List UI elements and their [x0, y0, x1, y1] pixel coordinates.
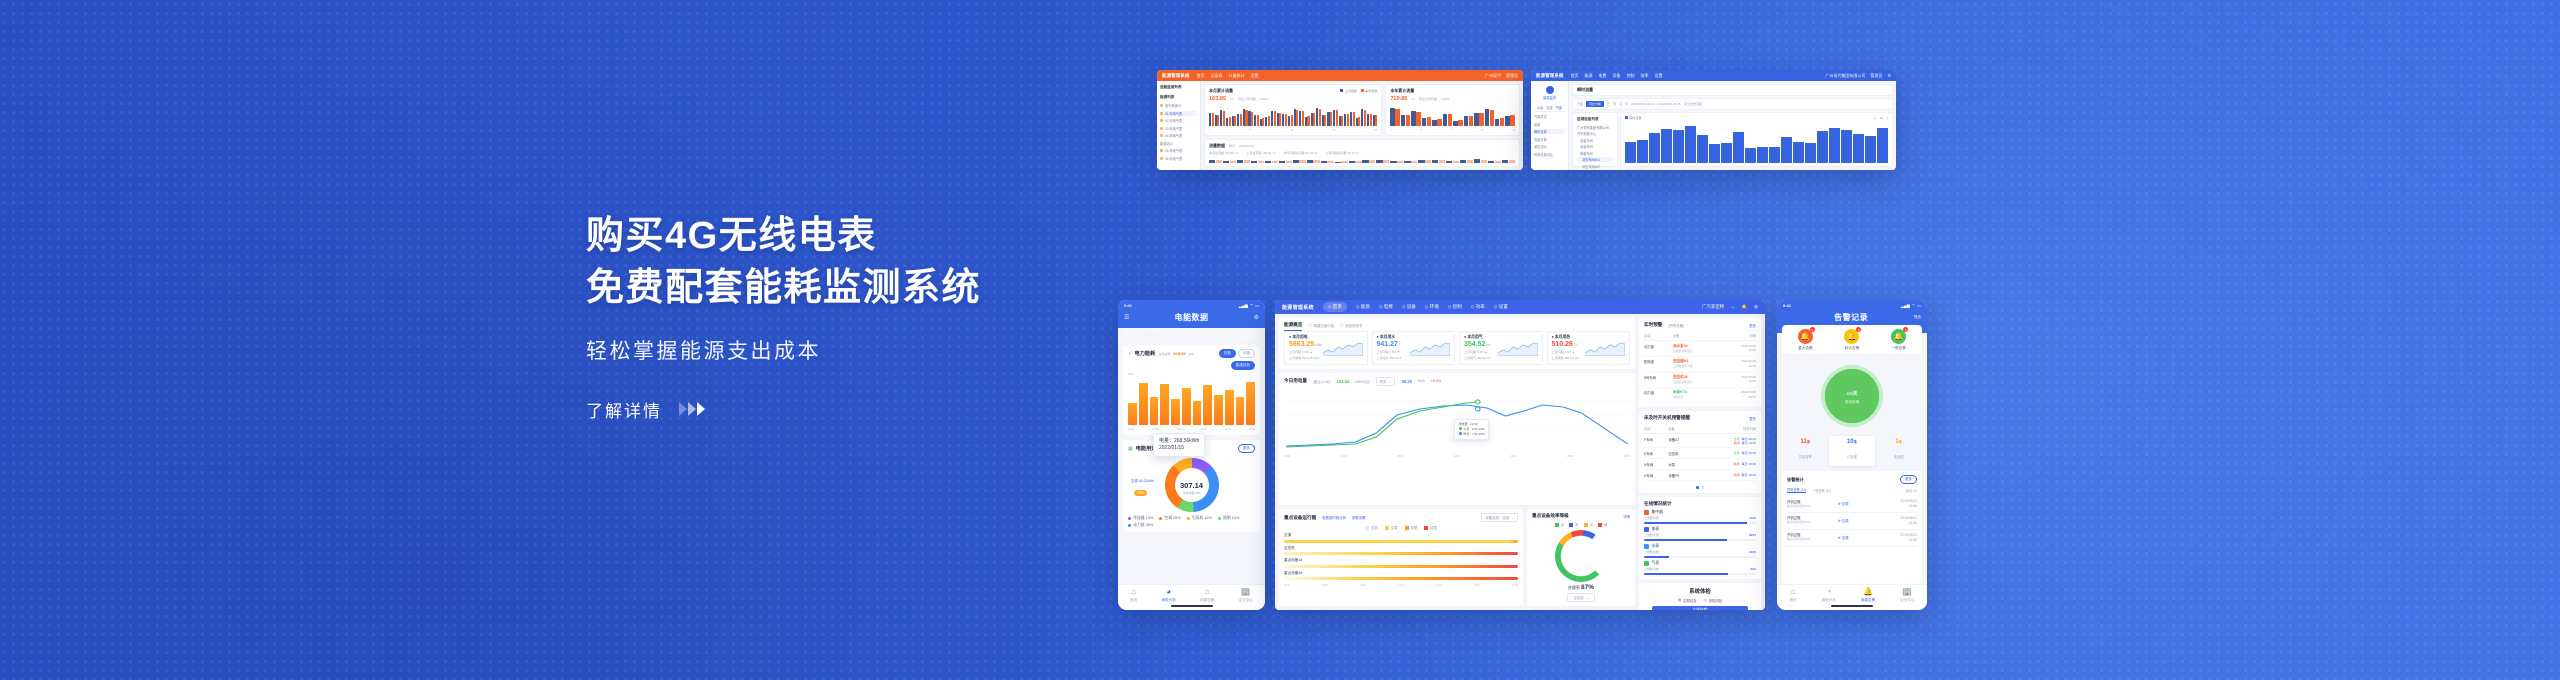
bar [1625, 124, 1636, 163]
bell-icon: ⌂ [1205, 588, 1210, 596]
bar-group [1422, 106, 1431, 126]
status-bar: 9:41 ▂▄▆⌃▭ [1118, 300, 1265, 311]
bar [1160, 384, 1169, 425]
sidebar-item[interactable]: 05 用电气表 [1160, 148, 1197, 153]
card-alarm-stats: 告警统计 更多 异常告警 (11) 一般告警 (10) 综合 (1) 开机过慢额… [1782, 471, 1922, 584]
bar [1171, 399, 1180, 425]
filter-month[interactable]: 月 [1619, 102, 1622, 106]
search-icon: ⌕ [1129, 331, 1131, 336]
card-kpi-value: 163.85 [1209, 96, 1226, 102]
account-user[interactable]: 管理员 [1506, 73, 1518, 79]
bar-group [1215, 106, 1220, 126]
bar-chart-flow-data [1209, 157, 1515, 163]
screenshot-desktop-instant-flow[interactable]: 能源管理系统 首页 能源 电费 设备 控制 效率 设置 广州现代集团有限公司 管… [1531, 70, 1896, 170]
card-title: 流量数据 [1209, 143, 1225, 149]
headline-line-2: 免费配套能耗监测系统 [586, 262, 1146, 314]
bar-group [1243, 106, 1248, 126]
bar-group [1502, 159, 1515, 163]
bar-group [1237, 106, 1242, 126]
card-alarm-levels: 🔔1 重大告警 🔔3 较大告警 🔔5 一般告警 [1782, 325, 1922, 354]
sidebar[interactable]: 能源监测 水量 电量 气量 气量总览 用量 瞬时流量 流量开量 量区对比 时间流… [1531, 81, 1569, 170]
bar-chart-daily-power [1128, 379, 1255, 425]
today-total-unit: kWh/对比 [1355, 379, 1370, 384]
tab-home[interactable]: ⌂首页 [1130, 588, 1137, 603]
nav-item-efficiency[interactable]: 效率 [1641, 73, 1649, 79]
bar-group [1464, 106, 1473, 126]
card-flow-data: 流量数据 按月 2019/12/01 本月总流量 163.85 m³ 上月总流量… [1204, 139, 1520, 167]
sidebar[interactable]: 选能监测列表 能源列表 用气系统01 01 用电气表 02 用电气表 03 用电… [1157, 81, 1201, 170]
panel-realtime-alarm: 实时预警 (所有设备) 更多 区域 设备 时间 动力部 深水泵3#长期低功率运行… [1639, 318, 1761, 407]
bar-group [1390, 106, 1399, 126]
gauge-efficiency [1555, 530, 1607, 582]
donut-callout-label: 空调 89.22kWh [1131, 478, 1154, 483]
filter-icon[interactable]: 筛选 [1914, 315, 1921, 320]
sidebar-item-area-compare[interactable]: 量区对比 [1534, 144, 1565, 149]
bar-group [1373, 106, 1378, 126]
card-power-consumption: ⚡ 电力能耗 当月总数 3046.62 kWh 日报 月报 曲线分析 kWh 0… [1123, 345, 1260, 435]
chevron-down-icon[interactable]: ⌄ [1731, 304, 1735, 310]
bar-group [1294, 106, 1299, 126]
tab-energy-alarm[interactable]: 🔔用能告警 [1861, 588, 1875, 603]
pill-daily[interactable]: 日报 [1219, 349, 1236, 358]
table-row[interactable]: N车间水泵 新闭每日 15:00 [1644, 459, 1756, 470]
more-link[interactable]: 更多 [1749, 416, 1756, 421]
bar-group [1322, 106, 1327, 126]
account-company[interactable]: 广州现代 [1485, 73, 1501, 79]
tree-node[interactable]: 涂装车间 [1577, 144, 1613, 149]
filter-day[interactable]: 日 [1607, 102, 1610, 106]
bar [1709, 124, 1720, 163]
tree-title: 区域设备列表 [1577, 116, 1613, 123]
bar [1193, 401, 1202, 425]
kpi-prev: 上月用热 496.54 GJ [1552, 356, 1626, 361]
legend-item: 引风机 12% [1187, 516, 1212, 521]
link-intro[interactable]: ▢ 新建交接介绍 [1308, 323, 1334, 328]
nav-item-control[interactable]: 控制 [1627, 73, 1635, 79]
x-axis: 02:0006:00 10:0014:00 18:0022:00 [1128, 428, 1255, 431]
tree-node[interactable]: 汽车制造中心 [1577, 131, 1613, 136]
online-row: 水表 上线数/总数16/72 [1644, 544, 1756, 558]
bar [1733, 124, 1744, 163]
app-brand: 能源管理系统 [1282, 304, 1314, 311]
screenshot-desktop-energy-dashboard[interactable]: 能源管理系统 ◇ 首页◇ 能源◇ 电费◇ 设备◇ 环境◇ 控制◇ 效率◇ 设置 … [1275, 300, 1765, 610]
filter-bar[interactable]: 日报 同比分析 日 周 月 年 2019/06/01 00:00 - 2019/… [1572, 98, 1893, 110]
bell-icon[interactable]: 🔔 [1742, 304, 1747, 310]
tab-home[interactable]: ⌂首页 [1789, 588, 1796, 603]
kpi-prev: 上月用水 956.64 T [1377, 356, 1451, 361]
learn-more-link[interactable]: 了解详情 [586, 397, 705, 422]
bar-group [1282, 106, 1287, 126]
equipment-row: 空压机 [1284, 546, 1518, 556]
device-tree[interactable]: 区域设备列表 广州现代集团有限公司... 汽车制造中心 总装车间 涂装车间 焊装… [1572, 112, 1618, 167]
sidebar-item[interactable]: 用气系统01 [1160, 103, 1197, 108]
today-current-unit: kWh [1418, 379, 1425, 383]
bar [1203, 385, 1212, 425]
today-total: 103.54 [1337, 379, 1350, 384]
tree-root[interactable]: 广州现代集团有限公司... [1577, 125, 1613, 130]
col-area: 区域 [1644, 424, 1668, 434]
nav-item-电费[interactable]: ◇ 电费 [1379, 304, 1393, 310]
bar-group [1362, 159, 1375, 163]
tree-node[interactable]: 焊装车间 [1577, 151, 1613, 156]
nav-item-fee[interactable]: 电费 [1599, 73, 1607, 79]
menu-icon[interactable]: ☰ [1124, 314, 1129, 321]
table-row[interactable]: 动力部 深水泵3#长期低功率运行 2021/03/1512:35 [1644, 341, 1756, 357]
legend-item: 空调 29% [1159, 516, 1180, 521]
legend-item: 差 [1598, 522, 1607, 527]
bar-group [1339, 106, 1344, 126]
start-check-button[interactable]: 立即体检 [1652, 606, 1748, 610]
compare-select[interactable]: 昨天 ⌄ [1376, 377, 1396, 386]
bar-group [1311, 106, 1316, 126]
list-item[interactable]: 开机过慢额定功率范围的20% ❄ 空调 2018/08/1112:56 [1787, 496, 1917, 513]
bar-group [1390, 159, 1403, 163]
card-title: 本月累计流量 [1209, 88, 1233, 94]
alarm-stat: 11条异常告警 [1782, 436, 1829, 466]
card-compare-delta: 5.60% [1441, 97, 1450, 101]
option-clear-risk: ◷ 清除风险 [1704, 598, 1723, 603]
kpi-card-gas: ● 本月用气 354.52m³ 上月同期 0.6% ▲ 上月用气 352.64 … [1459, 331, 1543, 365]
nav-item-环境[interactable]: ◇ 环境 [1425, 304, 1439, 310]
sidebar-item-usage[interactable]: 用量 [1534, 122, 1565, 127]
tab-enterprise-center[interactable]: 🏢企业中心 [1900, 588, 1914, 603]
bar-group [1474, 159, 1487, 163]
tab-enterprise-center[interactable]: 🏢企业中心 [1239, 588, 1253, 603]
bar [1225, 390, 1234, 425]
bar-group [1305, 106, 1310, 126]
table-row[interactable]: F车间设备A7 全闭每日 08:00新闭每日 18:00 [1644, 434, 1756, 448]
nav-item-home[interactable]: 首页 [1571, 73, 1579, 79]
nav-item-能源[interactable]: ◇ 能源 [1356, 304, 1370, 310]
nav-item-效率[interactable]: ◇ 效率 [1471, 304, 1485, 310]
stat-item: 本年同期总流量 86.19 m³ [1284, 151, 1318, 155]
alarm-stat: 1条未处理 [1875, 436, 1922, 466]
user-icon[interactable]: ◍ [1754, 304, 1758, 310]
more-button[interactable]: 更多 [1900, 475, 1917, 484]
col-check-time: 检查时间 [1697, 424, 1756, 434]
bar-group [1209, 106, 1214, 126]
card-kpi-value: 719.85 [1390, 96, 1407, 102]
panel-title: 系统体检 [1689, 587, 1711, 595]
nav-item-settings[interactable]: 设置 [1655, 73, 1663, 79]
bar [1841, 124, 1852, 163]
tree-node[interactable]: 冲压车间#02 [1577, 164, 1613, 169]
banner-subheadline: 轻松掌握能源支出成本 [586, 335, 1146, 365]
legend-item: 优 [1555, 522, 1564, 527]
bar-group [1248, 106, 1253, 126]
card-compare-label: 同比去年同期 [1419, 97, 1437, 101]
bar-group [1505, 106, 1514, 126]
date-range-input[interactable]: 2019/06/01 00:00 - 2019/06/01 23:45 [1631, 102, 1680, 106]
tab-energy-alarm[interactable]: ⌂用能告警 [1200, 588, 1214, 603]
sidebar-item[interactable]: 03 用电气表 [1160, 126, 1197, 131]
link-period-analysis[interactable]: 查看各时段分析 [1322, 515, 1346, 520]
screenshot-mobile-alarm-record[interactable]: 9:41 ▂▄▆⌃▭ ☰ 告警记录 筛选 🔔1 重大告警 🔔3 较大告警 🔔5 … [1777, 300, 1927, 610]
home-icon: ⌂ [1131, 588, 1136, 596]
online-row: 电表 上线数/总数53/72 [1644, 527, 1756, 541]
sidebar-title: 选能监测列表 [1160, 84, 1197, 91]
sidebar-item-time-compare[interactable]: 时间流量对比 [1534, 152, 1565, 157]
legend-item: 传送器 13% [1128, 516, 1153, 521]
alarm-level-一般告警[interactable]: 🔔5 一般告警 [1891, 329, 1906, 351]
tab-electric[interactable]: 电量 [1546, 105, 1552, 110]
page-title: 电能数据 [1175, 312, 1209, 323]
equipment-rows: 空调空压机重点设备1#重点设备2# [1284, 533, 1518, 580]
bar-group [1220, 106, 1225, 126]
bar-group [1474, 106, 1483, 126]
equipment-select[interactable]: 空压机 ⌄ [1567, 593, 1594, 602]
account-company[interactable]: 广州现代集团有限公司 [1825, 73, 1865, 79]
legend-item: 重载 [1424, 525, 1437, 530]
more-link[interactable]: 更多 [1749, 323, 1756, 328]
safe-days-widget: 375天 安全用电 [1782, 359, 1922, 431]
panel-online-stats: 在线情况统计 集中器 上线数/总数11/12 电表 上线数/总数53/72 水表… [1639, 497, 1761, 579]
search-input[interactable]: ⌕ 上个月总电量 🎙 [1124, 328, 1259, 339]
sidebar-item[interactable]: 04 用电气表 [1160, 133, 1197, 138]
wifi-icon: ⌃ [1250, 303, 1253, 308]
account-user[interactable]: 管理员 [1870, 73, 1882, 79]
bar-group [1485, 106, 1494, 126]
filter-period[interactable]: 按月 [1229, 144, 1235, 148]
bar [1214, 395, 1223, 425]
bar-group [1488, 159, 1501, 163]
bar [1781, 124, 1792, 163]
device-select[interactable]: 设备选择：全选 ⌄ [1481, 513, 1518, 522]
link-param-settings[interactable]: 参数设置 [1352, 515, 1366, 520]
battery-icon: ▭ [1917, 303, 1921, 308]
legend-this-year: 本年用量 [1361, 89, 1378, 93]
bar-group [1418, 159, 1431, 163]
card-kpi-unit: m³ [1411, 97, 1415, 101]
sidebar-group: 能源列表 [1160, 94, 1197, 101]
bell-icon: 🔔 [1863, 588, 1873, 596]
sparkline [1498, 341, 1538, 356]
filter-date[interactable]: 2019/12/01 [1239, 144, 1254, 148]
bar [1805, 124, 1816, 163]
bar [1757, 124, 1768, 163]
table-row[interactable]: 配电室 变压器H1三相电流不平衡 2021/03/1510:39 [1644, 356, 1756, 372]
legend-item: 轻载 [1405, 525, 1418, 530]
nav-item-energy[interactable]: 能源 [1585, 73, 1593, 79]
app-brand: 能源管理系统 [1162, 73, 1190, 79]
nav-item-首页[interactable]: ◇ 首页 [1323, 302, 1347, 312]
bar [1877, 124, 1888, 163]
equipment-row: 重点设备1# [1284, 558, 1518, 568]
signal-icon: ▂▄▆ [1901, 303, 1910, 308]
bar [1769, 124, 1780, 163]
bar-group [1288, 106, 1293, 126]
bar-group [1376, 159, 1389, 163]
pill-curve-analysis[interactable]: 曲线分析 [1231, 361, 1255, 370]
bar-group [1344, 106, 1349, 126]
donut-chart-energy-usage: 307.14 月总电量 kWh 空调 89.22kWh 29% [1128, 456, 1255, 513]
bar [1182, 388, 1191, 425]
sidebar-item[interactable]: 06 用电气表 [1160, 156, 1197, 161]
bar [1128, 403, 1137, 425]
filter-year[interactable]: 年 [1625, 102, 1628, 106]
list-item[interactable]: 开机过慢额定功率范围的20% ❄ 空调 2018/08/1112:56 [1787, 513, 1917, 530]
filter-week[interactable]: 周 [1613, 102, 1616, 106]
kpi-card-elec: ● 本月用电 5863.25kWh 上月同期 9.6% ▲ 上月用电 5319.… [1284, 331, 1368, 365]
bar-group [1316, 106, 1321, 126]
bar-group [1460, 159, 1473, 163]
nav-item-设备[interactable]: ◇ 设备 [1402, 304, 1416, 310]
pagination-dots[interactable] [1644, 484, 1756, 489]
donut-center-label: 月总电量 kWh [1180, 492, 1203, 495]
bar-group [1443, 106, 1452, 126]
alarm-table: 区域 设备 时间 动力部 深水泵3#长期低功率运行 2021/03/1512:3… [1644, 331, 1756, 403]
bar [1139, 383, 1148, 425]
panel-today-usage: 今日用电量 (截止12:00) 103.54 kWh/对比 昨天 ⌄ 98.25… [1279, 373, 1635, 505]
option-regular-check: ▤ 定期检查 [1678, 598, 1697, 603]
compare-checkbox[interactable]: 对比历史同期 [1683, 102, 1701, 106]
sparkline [1323, 341, 1363, 356]
nav-item-device[interactable]: 设备 [1613, 73, 1621, 79]
panel-energy-overview: 能源概览 ▢ 新建交接介绍 ▢ 系统说明书 ● 本月用电 5863.25kWh … [1279, 318, 1635, 369]
battery-icon: ▭ [1255, 303, 1259, 308]
gear-icon[interactable]: ⚙ [1887, 73, 1891, 79]
screenshot-desktop-flow-report[interactable]: 能源管理系统 首页 记录表 计量统计 设置 广州现代 管理员 选能监测列表 能源… [1157, 70, 1523, 170]
filter-compare[interactable]: 同比分析 [1586, 101, 1604, 107]
online-row: 气表 上线数/总数9/12 [1644, 561, 1756, 575]
bar-group [1349, 159, 1362, 163]
online-row: 集中器 上线数/总数11/12 [1644, 510, 1756, 524]
sidebar-item[interactable]: 01 用电气表 [1160, 111, 1197, 116]
nav-item-控制[interactable]: ◇ 控制 [1448, 304, 1462, 310]
bar-group [1277, 106, 1282, 126]
tab-water[interactable]: 水量 [1537, 105, 1543, 110]
app-header: ☰ 电能数据 ⚙ [1118, 311, 1265, 328]
section-title: 告警统计 [1787, 477, 1804, 483]
tab-general[interactable]: 一般告警 (10) [1812, 488, 1831, 493]
gauge-metric: 合理率 87% [1568, 584, 1594, 591]
app-brand: 能源管理系统 [1536, 73, 1564, 79]
bar [1793, 124, 1804, 163]
bar-group [1279, 159, 1292, 163]
sidebar-item[interactable]: 能源站02 [1160, 141, 1197, 146]
bar-group [1367, 106, 1372, 126]
panel-title: 重点设备运行图 [1284, 515, 1316, 521]
account-name[interactable]: 广汽菲亚特 [1702, 304, 1724, 310]
screenshot-mobile-energy-data[interactable]: 9:41 ▂▄▆⌃▭ ☰ 电能数据 ⚙ ⌕ 上个月总电量 🎙 ⚡ 电力能耗 当月… [1118, 300, 1265, 610]
nav-item-stats[interactable]: 计量统计 [1229, 73, 1245, 79]
kpi-prev: 上月用电 5319.45 kWh [1289, 356, 1363, 361]
more-link[interactable]: 详情 [1623, 514, 1630, 519]
bar [1853, 124, 1864, 163]
safe-days-unit: 天 [1852, 391, 1857, 397]
tab-gas[interactable]: 气量 [1556, 105, 1562, 110]
table-row[interactable]: H车间设备F9 新闭每日 18:00 [1644, 470, 1756, 481]
tree-node[interactable]: 冲压车间#01 [1577, 157, 1613, 162]
stat-item: 上月总流量 158.63 m³ [1246, 151, 1275, 155]
status-icons: ▂▄▆⌃▭ [1901, 303, 1921, 308]
sidebar-logo-label: 能源监测 [1543, 95, 1556, 100]
tab-summary[interactable]: 综合 (1) [1906, 488, 1917, 493]
legend-item: 动力部 36% [1128, 523, 1153, 528]
legend-prev-month: 上月用量 [1340, 89, 1357, 93]
bar-chart-month-flow [1209, 104, 1377, 126]
nav-item-home[interactable]: 首页 [1197, 73, 1205, 79]
pill-monthly[interactable]: 月报 [1238, 349, 1255, 358]
bar [1745, 124, 1756, 163]
equipment-legend: 关机 空载 轻载 重载 [1284, 525, 1518, 530]
filter-daily[interactable]: 日报 [1577, 102, 1583, 106]
chart-panel: 瞬时流量 ↧⊞⤓ [1620, 112, 1893, 167]
chevron-right-icon [679, 402, 705, 416]
stat-item: 本月总流量 163.85 m³ [1209, 151, 1238, 155]
bar-group [1254, 106, 1259, 126]
gear-icon[interactable]: ⚙ [1254, 314, 1259, 321]
status-time: 9:41 [1783, 303, 1791, 308]
bar [1865, 124, 1876, 163]
y-axis-unit: kWh [1128, 373, 1255, 376]
equipment-row: 重点设备2# [1284, 571, 1518, 581]
sidebar-item-flow-open[interactable]: 流量开量 [1534, 137, 1565, 142]
col-area: 区域 [1644, 331, 1673, 341]
nav-item-settings[interactable]: 设置 [1251, 73, 1259, 79]
tree-node[interactable]: 总装车间 [1577, 138, 1613, 143]
page-title: 告警记录 [1834, 312, 1868, 323]
nav-item-设置[interactable]: ◇ 设置 [1494, 304, 1508, 310]
building-icon: 🏢 [1902, 588, 1912, 596]
table-row[interactable]: E车间空压机 全闭每日 09:00 [1644, 448, 1756, 459]
bar-group [1265, 159, 1278, 163]
bar-group [1411, 106, 1420, 126]
bar-group [1307, 159, 1320, 163]
sidebar-item-instant-flow[interactable]: 瞬时流量 [1534, 129, 1565, 134]
table-row[interactable]: 8号车间 空压机3#长期低功率运行 2021/03/1510:05 [1644, 372, 1756, 388]
tab-abnormal[interactable]: 异常告警 (11) [1787, 487, 1806, 493]
efficiency-legend: 优 良 中 差 [1532, 522, 1630, 527]
alarm-stats: 11条异常告警10条已处理1条未处理 [1782, 436, 1922, 466]
bar-group [1293, 159, 1306, 163]
card-month-flow: 本月累计流量 上月用量 本年用量 163.85 m³ 同比上月同期 3.02% [1204, 84, 1382, 136]
panel-equipment-running: 重点设备运行图 查看各时段分析 参数设置 设备选择：全选 ⌄ 关机 空载 轻载 … [1279, 509, 1523, 606]
chart-toolbar[interactable]: ↧⊞⤓ [1874, 116, 1888, 120]
tab-power-analysis[interactable]: ◔用电分析 [1822, 588, 1836, 603]
card-meta-label: 当月总数 [1158, 352, 1170, 356]
panel-title: 能源概览 [1284, 322, 1302, 328]
panel-title: 瞬时流量 [1577, 87, 1888, 93]
table-row[interactable]: 动力部 水泵KT3B相过流 2021/03/1508:36 [1644, 387, 1756, 403]
pie-icon: ◔ [1826, 588, 1831, 596]
bar-group [1223, 159, 1236, 163]
mic-icon[interactable]: 🎙 [1249, 331, 1254, 336]
bar-group [1356, 106, 1361, 126]
link-manual[interactable]: ▢ 系统说明书 [1340, 323, 1362, 328]
panel-note: (截止12:00) [1313, 379, 1331, 384]
list-item[interactable]: 开机过慢额定功率范围的20% ❄ 空调 2018/08/1112:56 [1787, 530, 1917, 547]
nav-item-record[interactable]: 记录表 [1211, 73, 1223, 79]
bar-chart-year-flow [1390, 104, 1515, 126]
alarm-stat: 10条已处理 [1829, 436, 1876, 466]
bar-chart-instant-flow [1625, 122, 1888, 163]
legend-item: 良 [1569, 522, 1578, 527]
tab-power-analysis[interactable]: ◕用电分析 [1161, 588, 1175, 603]
bar [1150, 397, 1159, 425]
safe-days-value: 375 [1846, 392, 1852, 396]
bar [1685, 124, 1696, 163]
alarm-level-重大告警[interactable]: 🔔1 重大告警 [1798, 329, 1813, 351]
more-button[interactable]: 更多 [1238, 444, 1255, 453]
pie-icon: ◕ [1166, 588, 1171, 596]
donut-legend: 传送器 13%空调 29%引风机 12%照明 10%动力部 36% [1128, 516, 1255, 528]
sidebar-item[interactable]: 02 用电气表 [1160, 118, 1197, 123]
home-indicator [1831, 605, 1873, 607]
bar-group [1333, 106, 1338, 126]
equipment-row: 空调 [1284, 533, 1518, 543]
alarm-level-较大告警[interactable]: 🔔3 较大告警 [1844, 329, 1859, 351]
